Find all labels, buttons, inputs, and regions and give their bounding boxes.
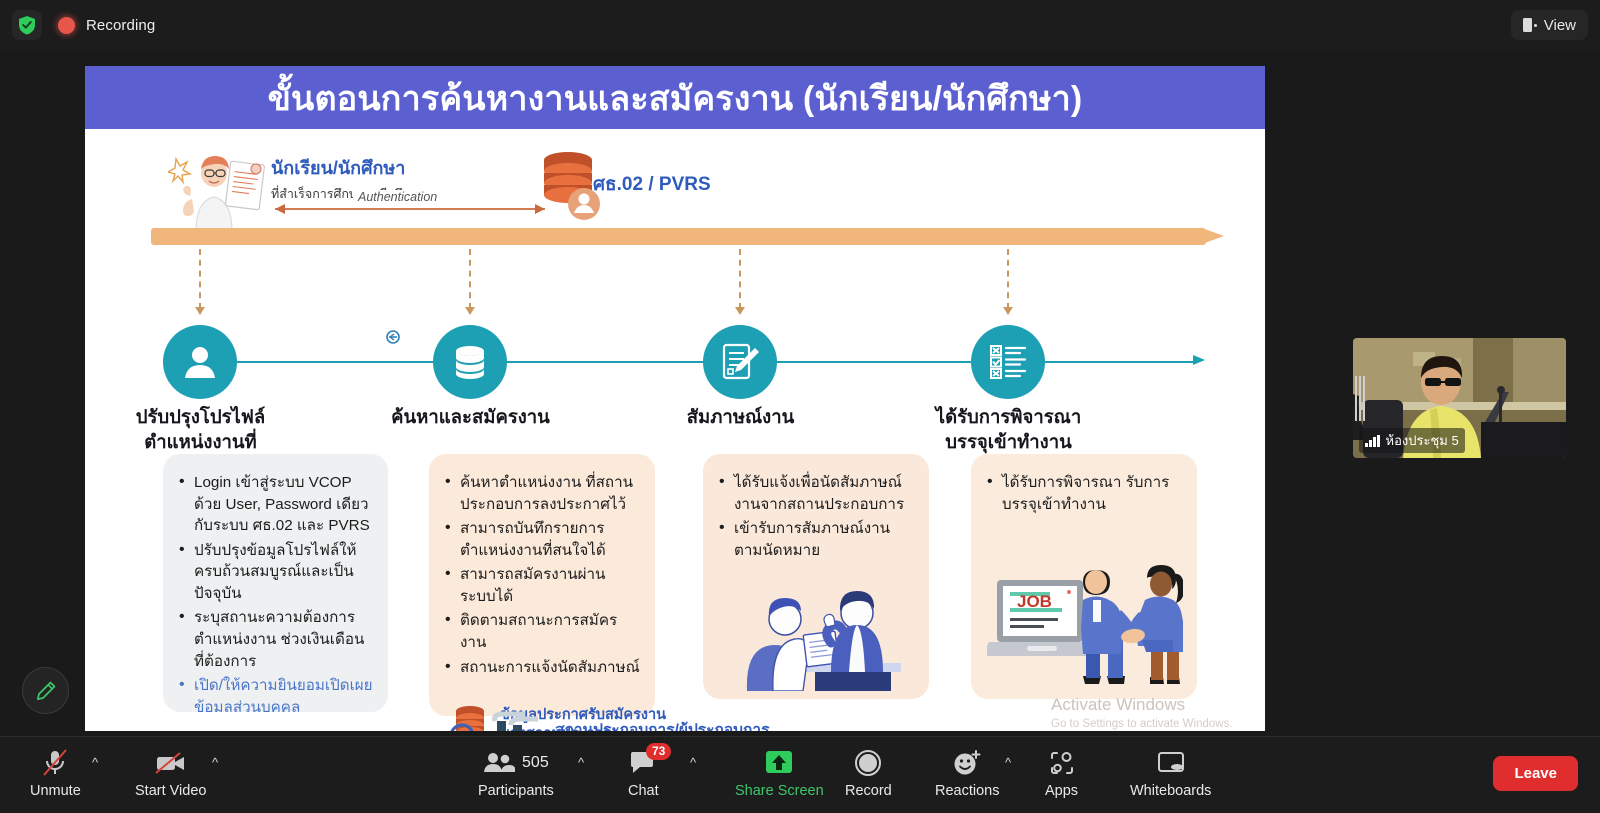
presenter-cursor-icon (385, 329, 401, 345)
share-screen-label: Share Screen (735, 783, 824, 799)
connector-arrow-1-icon (195, 307, 205, 315)
handshake-job-illustration: JOB (987, 548, 1183, 693)
encryption-shield-button[interactable] (12, 10, 42, 40)
participant-video-thumbnail[interactable]: ห้องประชุม 5 (1353, 338, 1566, 458)
list-item: สามารถบันทึกรายการตำแหน่งงานที่สนใจได้ (445, 518, 641, 561)
node-4-line1: ได้รับการพิจารณา (911, 405, 1106, 430)
list-item: เปิด/ให้ความยินยอมเปิดเผยข้อมูลส่วนบุคคล (179, 675, 374, 712)
step-card-1-list: Login เข้าสู่ระบบ VCOP ด้วย User, Passwo… (163, 454, 388, 712)
participants-icon-group: 505 (483, 746, 549, 780)
record-label: Record (845, 783, 892, 799)
node-1-line1: ปรับปรุงโปรไฟล์ (113, 405, 288, 430)
timeline-node-1[interactable] (163, 325, 237, 399)
start-video-label: Start Video (135, 783, 206, 799)
connector-dash-1 (199, 249, 201, 309)
list-item: ค้นหาตำแหน่งงาน ที่สถานประกอบการลงประกาศ… (445, 472, 641, 515)
whiteboards-button[interactable]: Whiteboards (1130, 746, 1211, 799)
view-label: View (1544, 17, 1576, 34)
timeline-pencil-tip-icon (1202, 228, 1224, 244)
user-icon (180, 342, 220, 382)
step-card-3: ได้รับแจ้งเพื่อนัดสัมภาษณ์งานจากสถานประก… (703, 454, 929, 699)
slide-title: ขั้นตอนการค้นหางานและสมัครงาน (นักเรียน/… (268, 71, 1083, 125)
slide-title-bar: ขั้นตอนการค้นหางานและสมัครงาน (นักเรียน/… (85, 66, 1265, 129)
thumbnail-label-text: ห้องประชุม 5 (1386, 430, 1459, 451)
share-screen-icon (762, 746, 796, 780)
view-layout-icon (1523, 18, 1537, 32)
participants-icon (483, 751, 515, 775)
chat-options-caret[interactable]: ^ (690, 755, 696, 770)
interview-illustration (727, 571, 905, 691)
database-label: ศธ.02 / PVRS (593, 169, 711, 199)
whiteboards-label: Whiteboards (1130, 783, 1211, 799)
document-edit-icon (719, 341, 761, 383)
apps-icon (1048, 746, 1076, 780)
connector-dash-2 (469, 249, 471, 309)
chat-button[interactable]: 73 Chat (628, 746, 659, 799)
record-button[interactable]: Record (845, 746, 892, 799)
step-card-4: ได้รับการพิจารณา รับการบรรจุเข้าทำงาน JO… (971, 454, 1197, 699)
list-item: ได้รับแจ้งเพื่อนัดสัมภาษณ์งานจากสถานประก… (719, 472, 915, 515)
whiteboard-icon (1156, 746, 1186, 780)
connector-dash-3 (739, 249, 741, 309)
graduate-student-illustration (168, 151, 278, 231)
list-item: สามารถสมัครงานผ่านระบบได้ (445, 564, 641, 607)
timeline-node-2-label: ค้นหาและสมัครงาน (373, 405, 568, 430)
step-card-1: Login เข้าสู่ระบบ VCOP ด้วย User, Passwo… (163, 454, 388, 712)
employer-note-title: สถานประกอบการ/ผู้ประกอบการ (555, 717, 856, 731)
participants-button[interactable]: 505 Participants (478, 746, 554, 799)
employer-note-text: สถานประกอบการ/ผู้ประกอบการ ลงประกาศรับสม… (555, 717, 856, 731)
pencil-icon (35, 680, 57, 702)
recording-dot-icon (58, 17, 75, 34)
recording-indicator[interactable]: Recording (58, 17, 155, 34)
participants-label: Participants (478, 783, 554, 799)
timeline-node-3[interactable] (703, 325, 777, 399)
node-1-circle (163, 325, 237, 399)
shared-screen-slide: ขั้นตอนการค้นหางานและสมัครงาน (นักเรียน/… (85, 66, 1265, 731)
step-card-2: ค้นหาตำแหน่งงาน ที่สถานประกอบการลงประกาศ… (429, 454, 655, 716)
step-card-2-list: ค้นหาตำแหน่งงาน ที่สถานประกอบการลงประกาศ… (429, 454, 655, 689)
timeline-end-arrow-icon (1193, 355, 1205, 365)
list-item: สถานะการแจ้งนัดสัมภาษณ์ (445, 657, 641, 679)
timeline-node-2[interactable] (433, 325, 507, 399)
watermark-line1: Activate Windows (1051, 695, 1233, 715)
list-item: ปรับปรุงข้อมูลโปรไฟล์ให้ ครบถ้วนสมบูรณ์แ… (179, 540, 374, 605)
video-options-caret[interactable]: ^ (212, 755, 218, 770)
timeline-pencil-bar (151, 228, 1206, 245)
zoom-meeting-window: Recording View ขั้นตอนการค้นหางานและสมัค… (0, 0, 1600, 813)
timeline-node-4-label: ได้รับการพิจารณา บรรจุเข้าทำงาน (911, 405, 1106, 454)
chat-label: Chat (628, 783, 659, 799)
chat-icon-group: 73 (629, 746, 657, 780)
timeline-node-4[interactable] (971, 325, 1045, 399)
watermark-line2: Go to Settings to activate Windows. (1051, 718, 1233, 730)
connector-arrow-3-icon (735, 307, 745, 315)
step-card-3-list: ได้รับแจ้งเพื่อนัดสัมภาษณ์งานจากสถานประก… (703, 454, 929, 572)
list-item: ระบุสถานะความต้องการตำแหน่งงาน ช่วงเงินเ… (179, 607, 374, 672)
reactions-button[interactable]: Reactions (935, 746, 999, 799)
checklist-icon (987, 342, 1029, 382)
person-title: นักเรียน/นักศึกษา (271, 153, 425, 182)
connector-arrow-2-icon (465, 307, 475, 315)
connector-arrow-4-icon (1003, 307, 1013, 315)
microphone-muted-icon (41, 746, 69, 780)
start-video-button[interactable]: Start Video (135, 746, 206, 799)
record-icon (853, 746, 883, 780)
leave-button[interactable]: Leave (1493, 756, 1578, 791)
authentication-label: Authentication (353, 190, 442, 204)
apps-button[interactable]: Apps (1045, 746, 1078, 799)
list-item: ติดตามสถานะการสมัครงาน (445, 610, 641, 653)
meeting-top-bar: Recording View (0, 0, 1600, 50)
view-button[interactable]: View (1511, 10, 1588, 40)
list-item: Login เข้าสู่ระบบ VCOP ด้วย User, Passwo… (179, 472, 374, 537)
node-4-circle (971, 325, 1045, 399)
activate-windows-watermark: Activate Windows Go to Settings to activ… (1051, 695, 1233, 730)
node-2-circle (433, 325, 507, 399)
list-item: ได้รับการพิจารณา รับการบรรจุเข้าทำงาน (987, 472, 1183, 515)
thumbnail-drag-handle[interactable] (1355, 376, 1365, 421)
node-3-circle (703, 325, 777, 399)
timeline-node-3-label: สัมภาษณ์งาน (643, 405, 838, 430)
share-screen-button[interactable]: Share Screen (735, 746, 824, 799)
recording-label: Recording (86, 17, 155, 34)
camera-muted-icon (154, 746, 188, 780)
participants-count: 505 (522, 754, 549, 772)
annotate-pencil-button[interactable] (22, 667, 69, 714)
reactions-label: Reactions (935, 783, 999, 799)
unmute-button[interactable]: Unmute (30, 746, 81, 799)
apps-label: Apps (1045, 783, 1078, 799)
node-3-line1: สัมภาษณ์งาน (643, 405, 838, 430)
thumbnail-name-label: ห้องประชุม 5 (1359, 428, 1465, 453)
chat-unread-badge: 73 (646, 743, 671, 760)
database-icon (450, 342, 490, 382)
slide-body: นักเรียน/นักศึกษา ที่สำเร็จการศึกษาอาชีว… (85, 129, 1265, 731)
unmute-label: Unmute (30, 783, 81, 799)
list-item: เข้ารับการสัมภาษณ์งานตามนัดหมาย (719, 518, 915, 561)
meeting-toolbar: Unmute ^ Start Video ^ (0, 736, 1600, 813)
shield-check-icon (18, 15, 36, 35)
factory-icon (475, 711, 549, 731)
reactions-options-caret[interactable]: ^ (1005, 755, 1011, 770)
job-screen-text: JOB (1017, 592, 1052, 611)
node-2-line1: ค้นหาและสมัครงาน (373, 405, 568, 430)
audio-options-caret[interactable]: ^ (92, 755, 98, 770)
node-4-line2: บรรจุเข้าทำงาน (911, 430, 1106, 455)
participants-options-caret[interactable]: ^ (578, 755, 584, 770)
connector-dash-4 (1007, 249, 1009, 309)
step-card-4-list: ได้รับการพิจารณา รับการบรรจุเข้าทำงาน (971, 454, 1197, 526)
signal-bars-icon (1365, 435, 1380, 447)
reactions-icon (951, 746, 983, 780)
